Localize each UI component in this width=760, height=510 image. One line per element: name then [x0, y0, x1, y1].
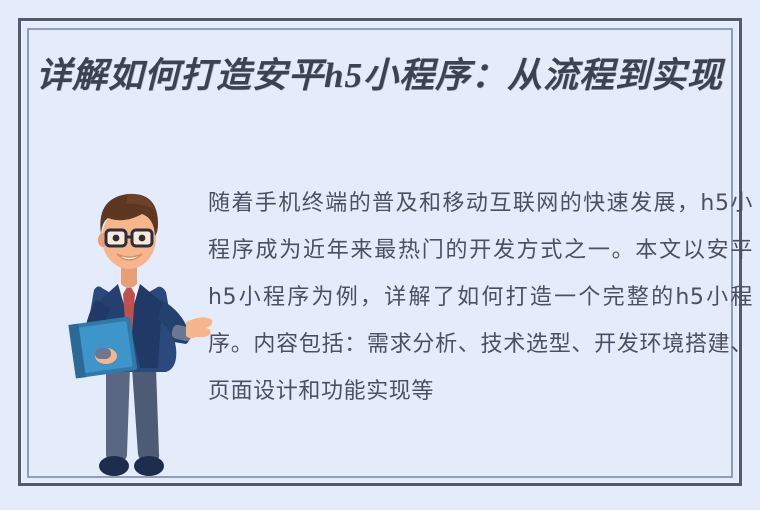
page-title: 详解如何打造安平h5小程序：从流程到实现 — [36, 52, 736, 99]
businessman-svg — [62, 172, 214, 484]
poster-canvas: 详解如何打造安平h5小程序：从流程到实现 — [0, 0, 760, 510]
article-summary-text: 随着手机终端的普及和移动互联网的快速发展，h5小程序成为近年来最热门的开发方式之… — [208, 180, 753, 415]
businessman-illustration — [62, 172, 214, 484]
